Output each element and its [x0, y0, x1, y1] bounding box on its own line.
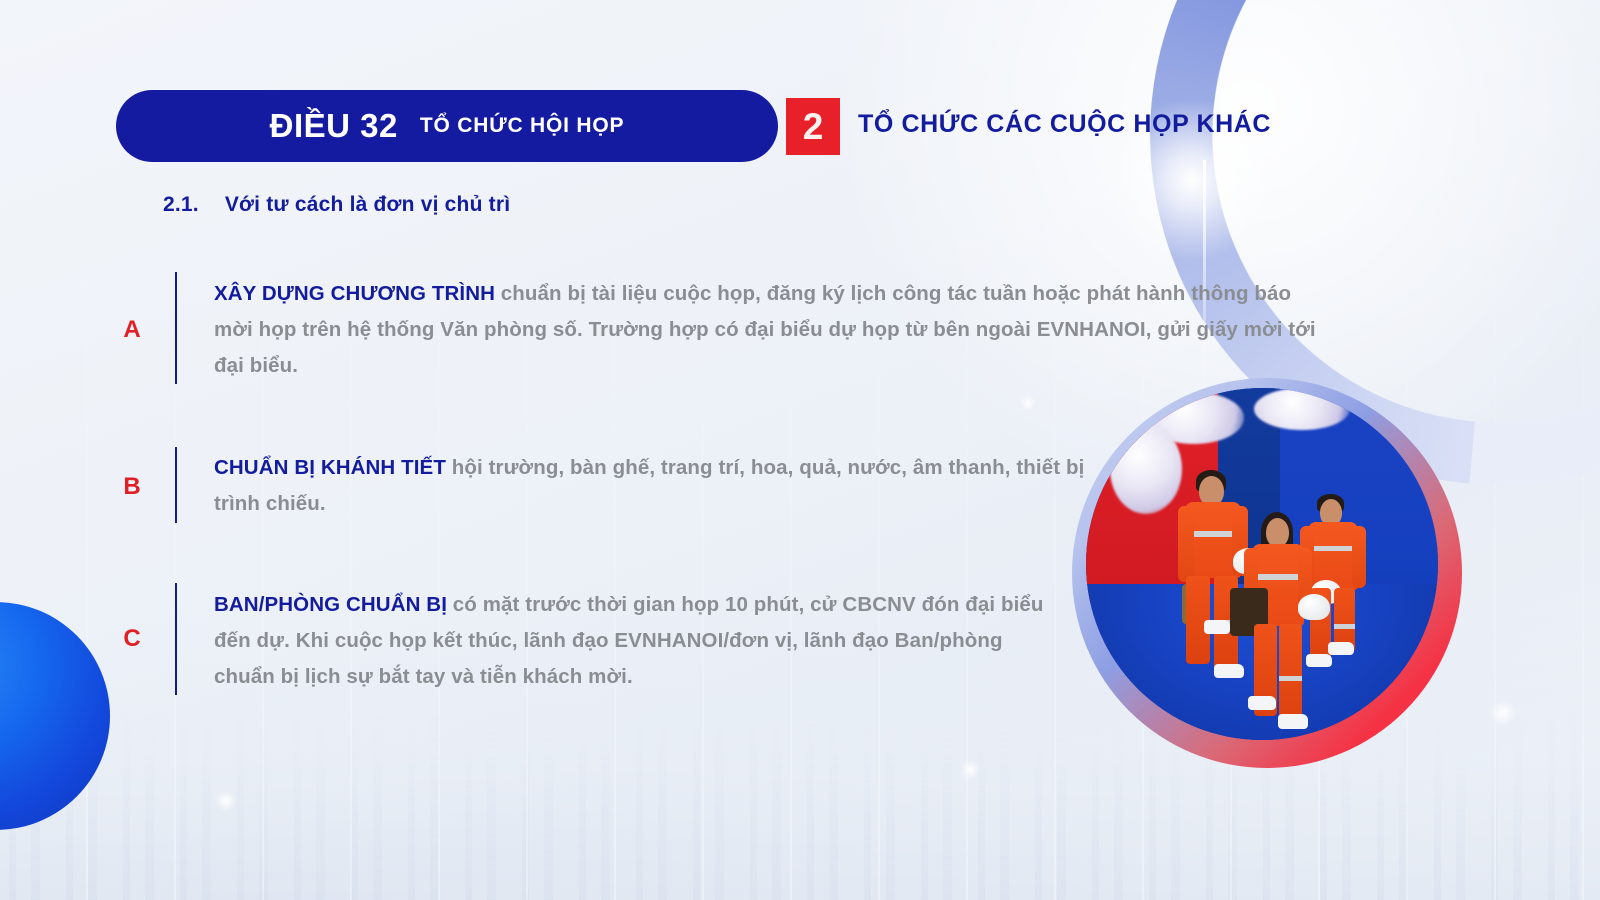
item-letter: C	[112, 625, 152, 695]
photo-circle-container	[1072, 378, 1462, 768]
article-subject-label: TỔ CHỨC HỘI HỌP	[420, 114, 624, 138]
list-item: C BAN/PHÒNG CHUẨN BỊ có mặt trước thời g…	[112, 583, 1044, 695]
workers-photo	[1086, 388, 1438, 740]
item-divider-rule	[175, 447, 177, 523]
section-number-badge: 2	[786, 98, 840, 155]
slide-canvas: ĐIỀU 32 TỔ CHỨC HỘI HỌP 2 TỔ CHỨC CÁC CU…	[0, 0, 1600, 900]
article-number-label: ĐIỀU 32	[270, 107, 398, 145]
item-text: BAN/PHÒNG CHUẨN BỊ có mặt trước thời gia…	[214, 587, 1044, 695]
item-divider-rule	[175, 583, 177, 695]
cloud-icon-3	[1254, 388, 1350, 430]
item-lead: XÂY DỰNG CHƯƠNG TRÌNH	[214, 282, 495, 305]
sub-heading: 2.1.Với tư cách là đơn vị chủ trì	[163, 193, 510, 217]
list-item: B CHUẨN BỊ KHÁNH TIẾT hội trường, bàn gh…	[112, 447, 1114, 523]
section-title: TỔ CHỨC CÁC CUỘC HỌP KHÁC	[858, 110, 1271, 139]
sub-heading-number: 2.1.	[163, 193, 199, 216]
sub-heading-text: Với tư cách là đơn vị chủ trì	[225, 193, 510, 216]
article-pill[interactable]: ĐIỀU 32 TỔ CHỨC HỘI HỌP	[116, 90, 778, 162]
item-lead: BAN/PHÒNG CHUẨN BỊ	[214, 593, 447, 616]
item-lead: CHUẨN BỊ KHÁNH TIẾT	[214, 456, 446, 479]
cloud-icon-2	[1110, 424, 1182, 514]
item-text: CHUẨN BỊ KHÁNH TIẾT hội trường, bàn ghế,…	[214, 450, 1114, 523]
item-letter: B	[112, 473, 152, 523]
item-divider-rule	[175, 272, 177, 384]
item-text: XÂY DỰNG CHƯƠNG TRÌNH chuẩn bị tài liệu …	[214, 276, 1319, 384]
list-item: A XÂY DỰNG CHƯƠNG TRÌNH chuẩn bị tài liệ…	[112, 272, 1319, 384]
item-letter: A	[112, 316, 152, 384]
